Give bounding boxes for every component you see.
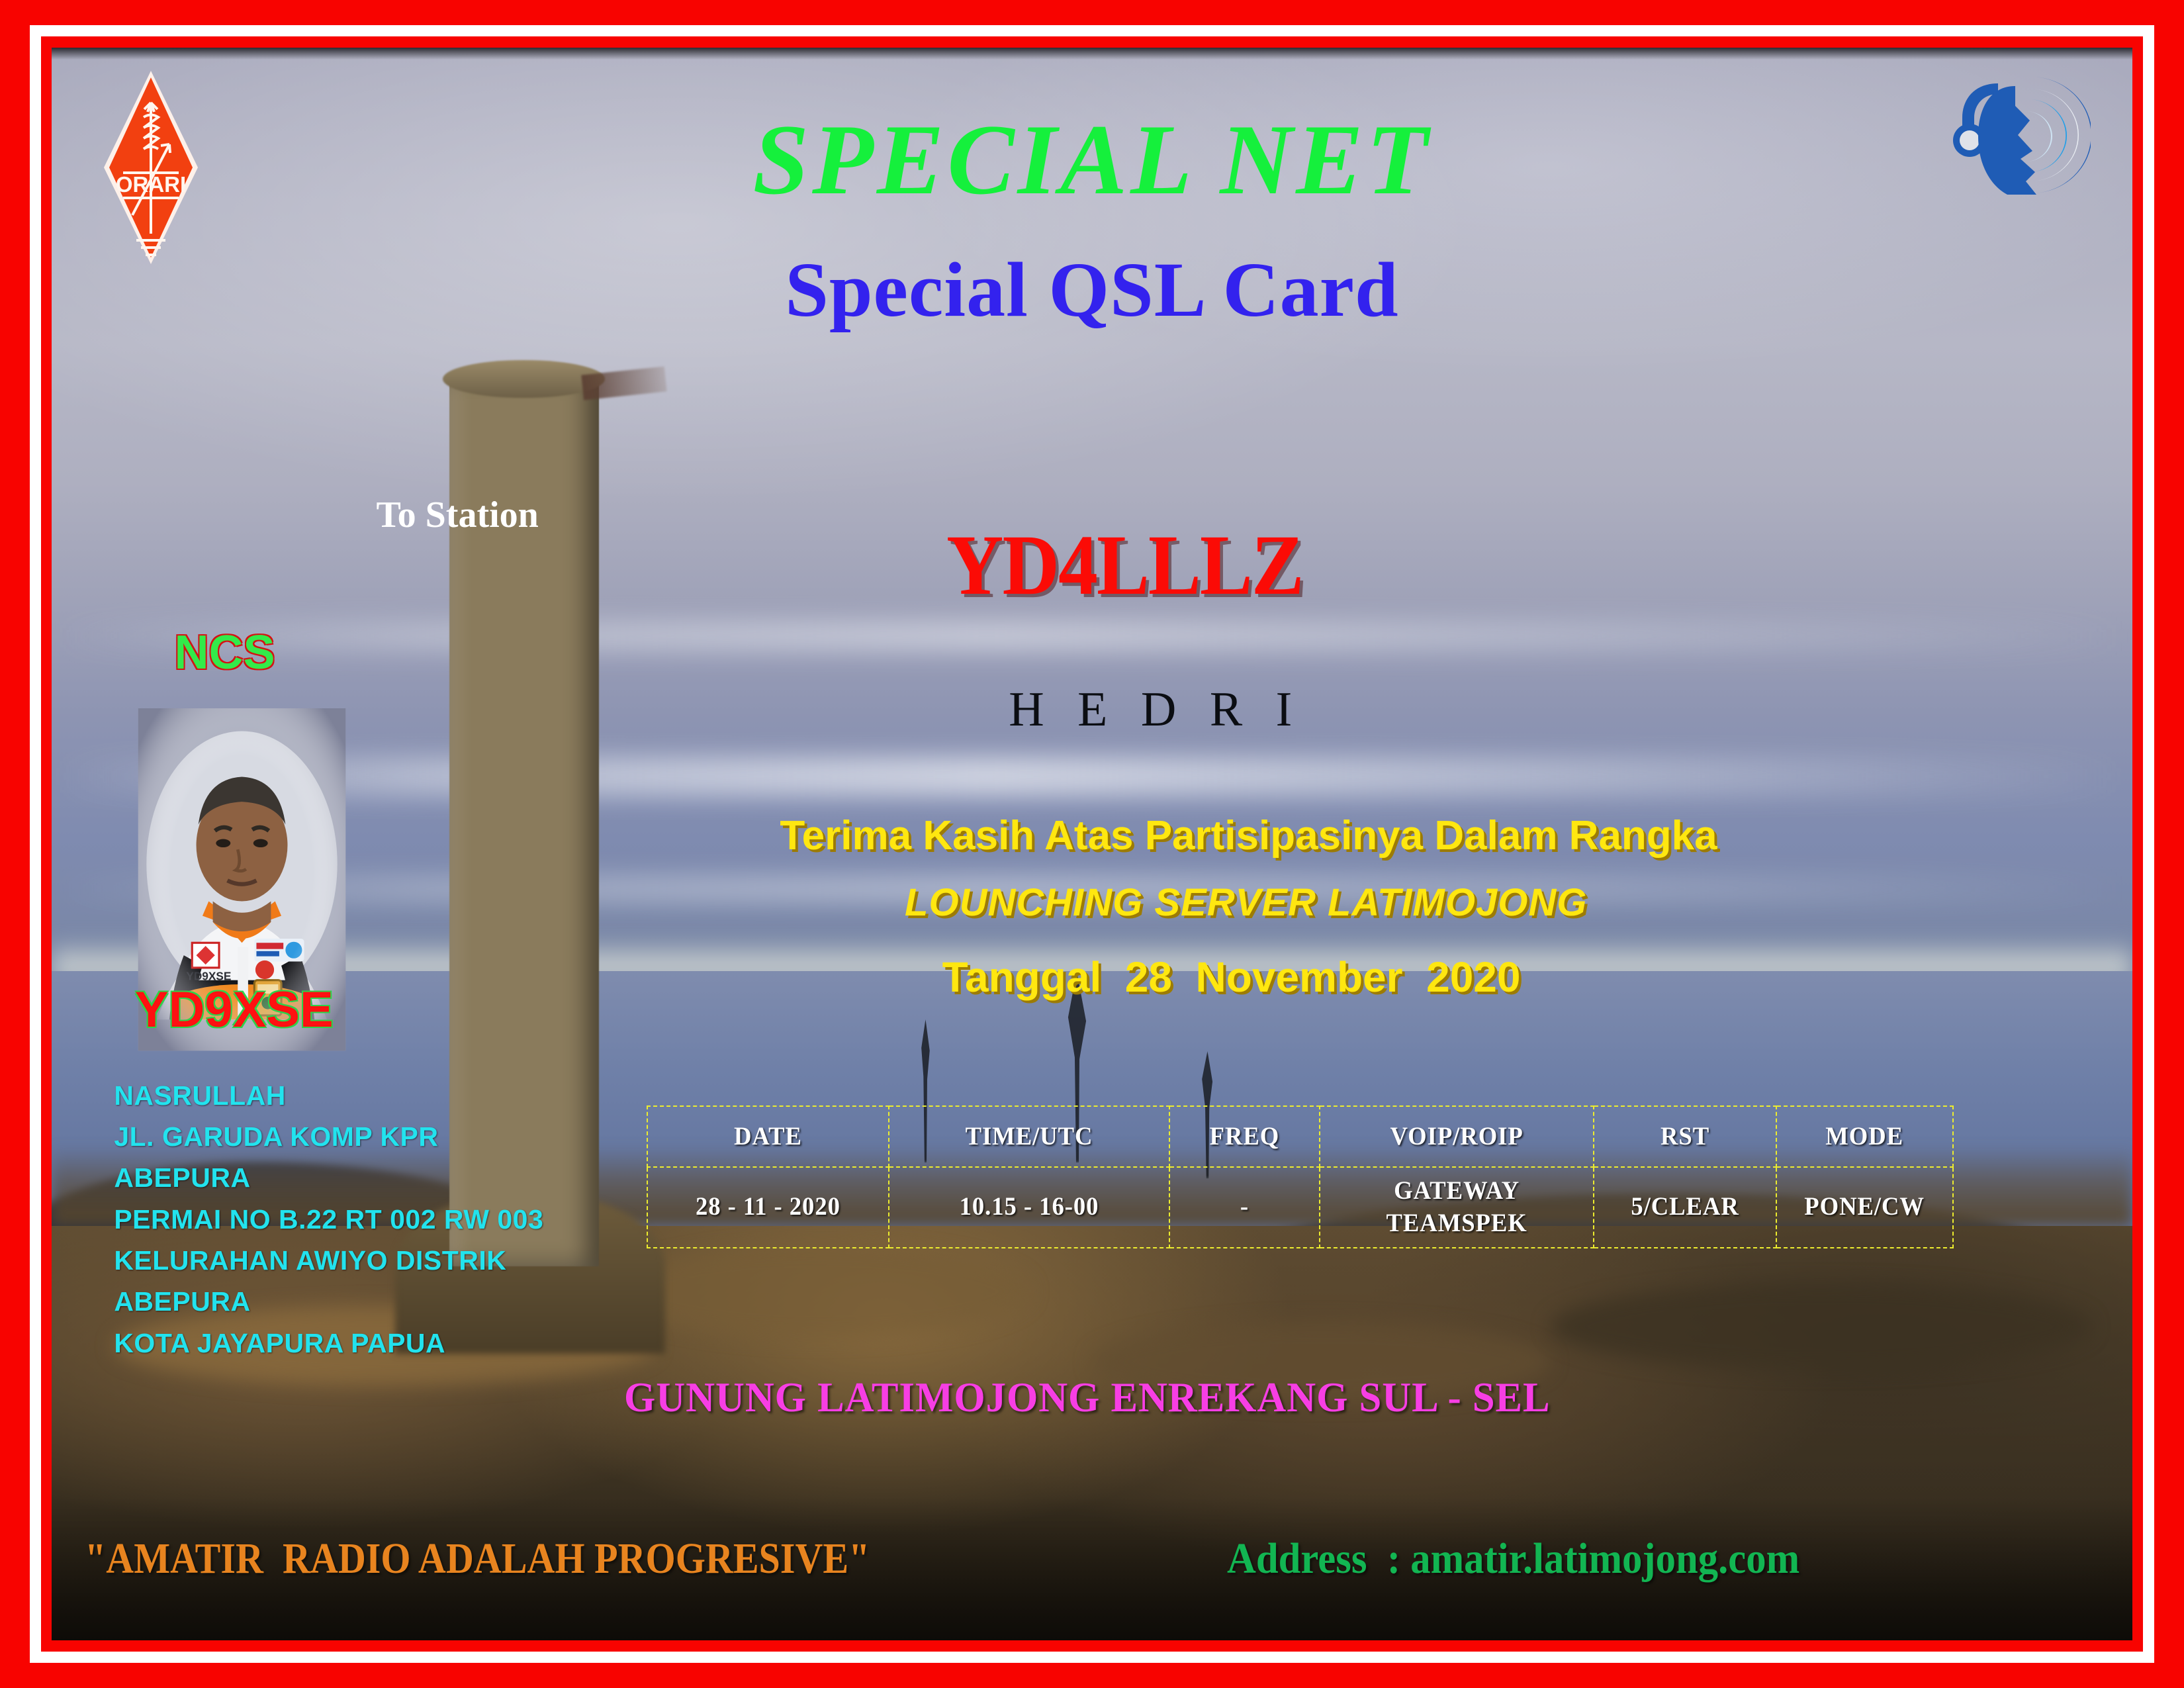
qso-log-table: DATE TIME/UTC FREQ VOIP/ROIP RST MODE 28… [647, 1105, 1953, 1248]
column-header-date: DATE [655, 1106, 882, 1167]
thanks-line-2: LOUNCHING SERVER LATIMOJONG [905, 880, 1587, 925]
cell-date: 28 - 11 - 2020 [655, 1167, 882, 1248]
qsl-card: ORARI SPECIAL NET Special QSL Card To St… [0, 0, 2184, 1688]
address-line: NASRULLAH [114, 1075, 543, 1116]
table-header-row: DATE TIME/UTC FREQ VOIP/ROIP RST MODE [647, 1106, 1952, 1167]
cell-freq: - [1174, 1167, 1315, 1248]
grass-tuft [614, 1245, 1030, 1338]
recipient-callsign: YD4LLLZ [946, 516, 1303, 615]
column-header-time-utc: TIME/UTC [897, 1106, 1161, 1167]
ncs-callsign: YD9XSE [135, 981, 334, 1039]
grass-tuft [1550, 1284, 2091, 1370]
address-line: JL. GARUDA KOMP KPR [114, 1116, 543, 1157]
column-header-rst: RST [1599, 1106, 1771, 1167]
thanks-line-3: Tanggal 28 November 2020 [942, 953, 1521, 1002]
address-line: KOTA JAYAPURA PAPUA [114, 1323, 543, 1364]
column-header-mode: MODE [1782, 1106, 1947, 1167]
thanks-line-1: Terima Kasih Atas Partisipasinya Dalam R… [780, 812, 1717, 859]
cell-mode: PONE/CW [1782, 1167, 1947, 1248]
ncs-label: NCS [174, 626, 275, 680]
column-header-freq: FREQ [1174, 1106, 1315, 1167]
operator-name: H E D R I [1009, 682, 1302, 738]
address-line: ABEPURA [114, 1157, 543, 1198]
location-caption: GUNUNG LATIMOJONG ENREKANG SUL - SEL [624, 1373, 1551, 1422]
card-photo-area: ORARI SPECIAL NET Special QSL Card To St… [52, 48, 2132, 1640]
cell-time-utc: 10.15 - 16-00 [897, 1167, 1161, 1248]
station-address-block: NASRULLAH JL. GARUDA KOMP KPR ABEPURA PE… [114, 1075, 543, 1364]
to-station-label: To Station [376, 494, 538, 536]
photo-top-shadow [52, 48, 2132, 60]
cell-rst: 5/CLEAR [1599, 1167, 1771, 1248]
cloud-band [52, 621, 2132, 651]
cairn-top [443, 360, 605, 399]
motto-text: "AMATIR RADIO ADALAH PROGRESIVE" [85, 1534, 870, 1584]
column-header-voip-roip: VOIP/ROIP [1328, 1106, 1585, 1167]
table-row: 28 - 11 - 2020 10.15 - 16-00 - GATEWAY T… [647, 1167, 1952, 1248]
cell-voip-roip: GATEWAY TEAMSPEK [1328, 1167, 1585, 1248]
address-line: ABEPURA [114, 1281, 543, 1322]
page-subtitle-qsl-card: Special QSL Card [52, 245, 2132, 335]
page-title-special-net: SPECIAL NET [52, 102, 2132, 217]
address-line: KELURAHAN AWIYO DISTRIK [114, 1240, 543, 1281]
web-address: Address : amatir.latimojong.com [1227, 1534, 1799, 1584]
address-line: PERMAI NO B.22 RT 002 RW 003 [114, 1199, 543, 1240]
